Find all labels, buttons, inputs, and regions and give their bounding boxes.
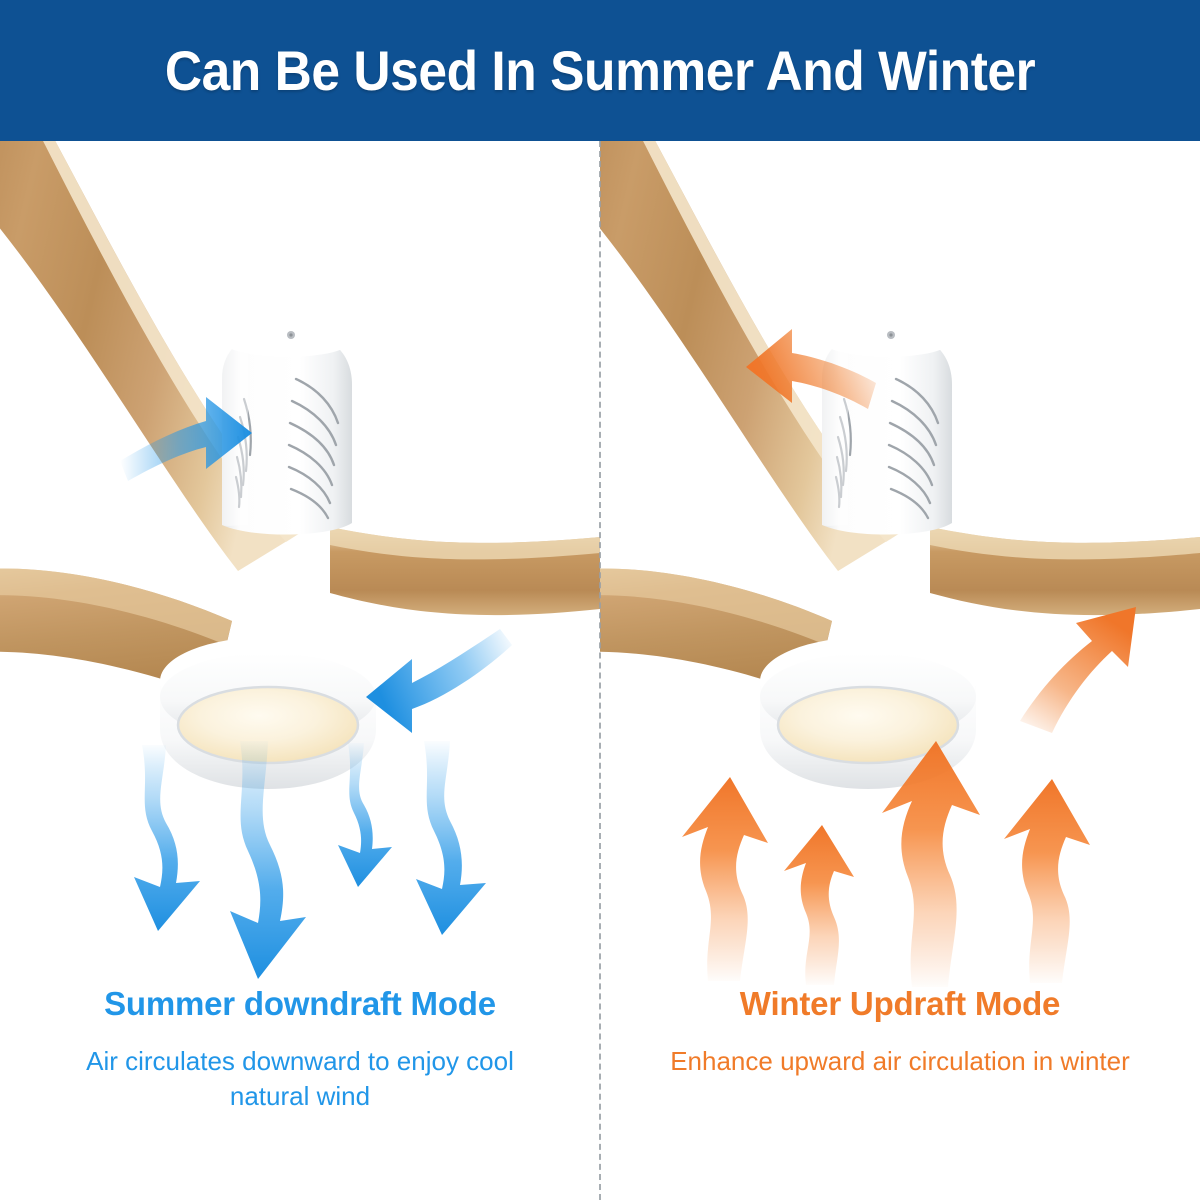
motor-housing: [822, 325, 952, 535]
rotation-arrow-bottom: [366, 629, 512, 733]
caption-summer: Summer downdraft Mode Air circulates dow…: [0, 986, 600, 1114]
caption-title-summer: Summer downdraft Mode: [0, 986, 600, 1022]
airflow-arrow-4: [416, 741, 486, 935]
header-banner: Can Be Used In Summer And Winter: [0, 0, 1200, 141]
airflow-arrows-down: [0, 731, 600, 991]
caption-title-winter: Winter Updraft Mode: [600, 986, 1200, 1022]
rotation-arrow-bottom: [1020, 607, 1136, 733]
airflow-arrow-1: [682, 777, 768, 981]
airflow-arrow-1: [134, 745, 200, 931]
caption-body-winter: Enhance upward air circulation in winter: [665, 1044, 1135, 1079]
airflow-arrow-3: [882, 741, 980, 987]
product-infographic: Can Be Used In Summer And Winter: [0, 0, 1200, 1200]
page-title: Can Be Used In Summer And Winter: [165, 38, 1035, 103]
airflow-arrow-4: [1004, 779, 1090, 983]
airflow-arrow-3: [338, 743, 392, 887]
panel-divider: [599, 141, 601, 1200]
airflow-arrows-up: [600, 731, 1200, 991]
caption-body-summer: Air circulates downward to enjoy cool na…: [65, 1044, 535, 1114]
panel-summer-mode: Summer downdraft Mode Air circulates dow…: [0, 141, 600, 1200]
caption-winter: Winter Updraft Mode Enhance upward air c…: [600, 986, 1200, 1079]
panel-winter-mode: Winter Updraft Mode Enhance upward air c…: [600, 141, 1200, 1200]
airflow-arrow-2: [230, 741, 306, 979]
airflow-arrow-2: [784, 825, 854, 985]
